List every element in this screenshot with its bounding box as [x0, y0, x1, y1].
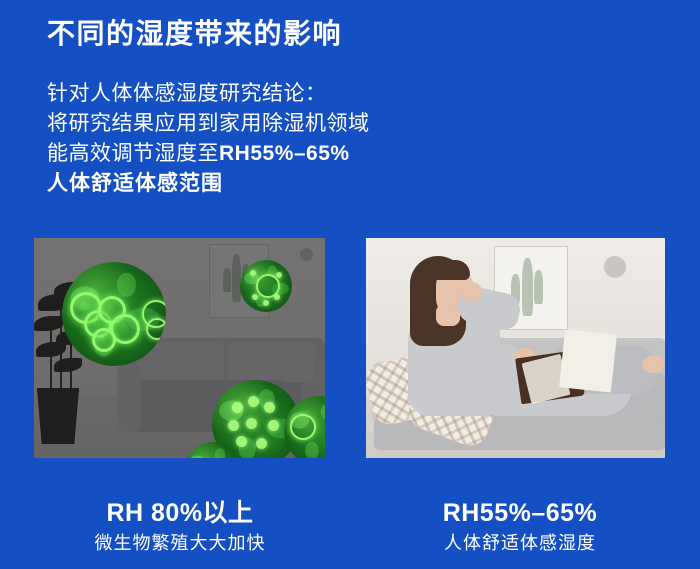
germ-ring-icon [290, 414, 316, 440]
caption-sub-high-humidity: 微生物繁殖大大加快 [15, 531, 345, 555]
panel-image-comfort-humidity [366, 238, 665, 458]
germ-dot-icon [263, 300, 269, 306]
caption-sub-comfort-humidity: 人体舒适体感湿度 [355, 531, 685, 555]
panel-image-high-humidity [34, 238, 325, 458]
woman-hand-at-head [462, 282, 482, 302]
microbe-blob-large [62, 262, 166, 366]
caption-comfort-humidity: RH55%–65% 人体舒适体感湿度 [355, 498, 685, 555]
germ-dot-icon [236, 436, 247, 447]
body-copy: 针对人体体感湿度研究结论： 将研究结果应用到家用除湿机领域 能高效调节湿度至RH… [47, 79, 370, 199]
germ-dot-icon [256, 438, 267, 449]
caption-high-humidity: RH 80%以上 微生物繁殖大大加快 [15, 498, 345, 555]
woman-foot [642, 356, 664, 373]
caption-title-high-humidity: RH 80%以上 [15, 498, 345, 528]
room-scene-dark [34, 238, 325, 458]
woman-neck [436, 304, 460, 326]
cactus-arm2-icon [534, 270, 543, 304]
germ-dot-icon [252, 294, 258, 300]
germ-dot-icon [268, 420, 279, 431]
cactus-icon [522, 258, 533, 316]
microbe-blob-small-top [240, 260, 292, 312]
panel-row [0, 238, 700, 459]
body-line-3: 能高效调节湿度至RH55%–65% [47, 139, 370, 169]
germ-dot-icon [274, 294, 280, 300]
humidity-comparison-poster: 不同的湿度带来的影响 针对人体体感湿度研究结论： 将研究结果应用到家用除湿机领域… [0, 0, 700, 569]
wall-speaker-icon [604, 256, 626, 278]
germ-dot-icon [246, 418, 257, 429]
germ-dot-icon [248, 396, 259, 407]
caption-row: RH 80%以上 微生物繁殖大大加快 RH55%–65% 人体舒适体感湿度 [0, 498, 700, 569]
page-title: 不同的湿度带来的影响 [47, 17, 342, 51]
germ-dot-icon [250, 270, 256, 276]
germ-dot-icon [264, 402, 275, 413]
germ-dot-icon [232, 402, 243, 413]
germ-dot-icon [228, 420, 239, 431]
woman-hair-front [430, 260, 470, 280]
germ-ring-icon [146, 318, 166, 340]
body-line-2: 将研究结果应用到家用除湿机领域 [47, 109, 370, 139]
body-line-1: 针对人体体感湿度研究结论： [47, 79, 370, 109]
caption-title-comfort-humidity: RH55%–65% [355, 498, 685, 528]
body-line-4: 人体舒适体感范围 [47, 169, 370, 199]
germ-dot-icon [276, 272, 282, 278]
body-line-3-prefix: 能高效调节湿度至 [47, 142, 219, 165]
room-scene-bright [366, 238, 665, 458]
humidity-range-highlight: RH55%–65% [219, 142, 350, 165]
germ-icon [92, 328, 116, 352]
